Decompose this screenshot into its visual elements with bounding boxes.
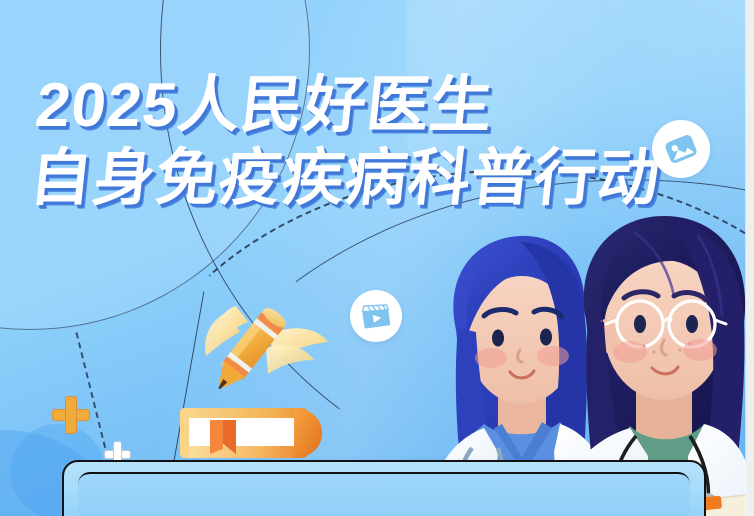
poster-banner: 2025人民好医生 自身免疫疾病科普行动: [0, 0, 754, 516]
right-edge-strip: [746, 0, 754, 516]
video-clapperboard-icon: [358, 298, 394, 334]
counter-desk: [62, 460, 706, 516]
title-line-2: 自身免疫疾病科普行动: [27, 147, 664, 210]
poster-title: 2025人民好医生 自身免疫疾病科普行动: [30, 74, 660, 210]
winged-pencil-illustration: [176, 300, 336, 415]
video-badge[interactable]: [350, 290, 402, 342]
image-icon: [661, 129, 701, 169]
photo-badge[interactable]: [652, 120, 710, 178]
plus-orange-icon: [52, 396, 90, 434]
title-line-1: 2025人民好医生: [33, 74, 664, 137]
counter-desk-top: [78, 472, 690, 516]
